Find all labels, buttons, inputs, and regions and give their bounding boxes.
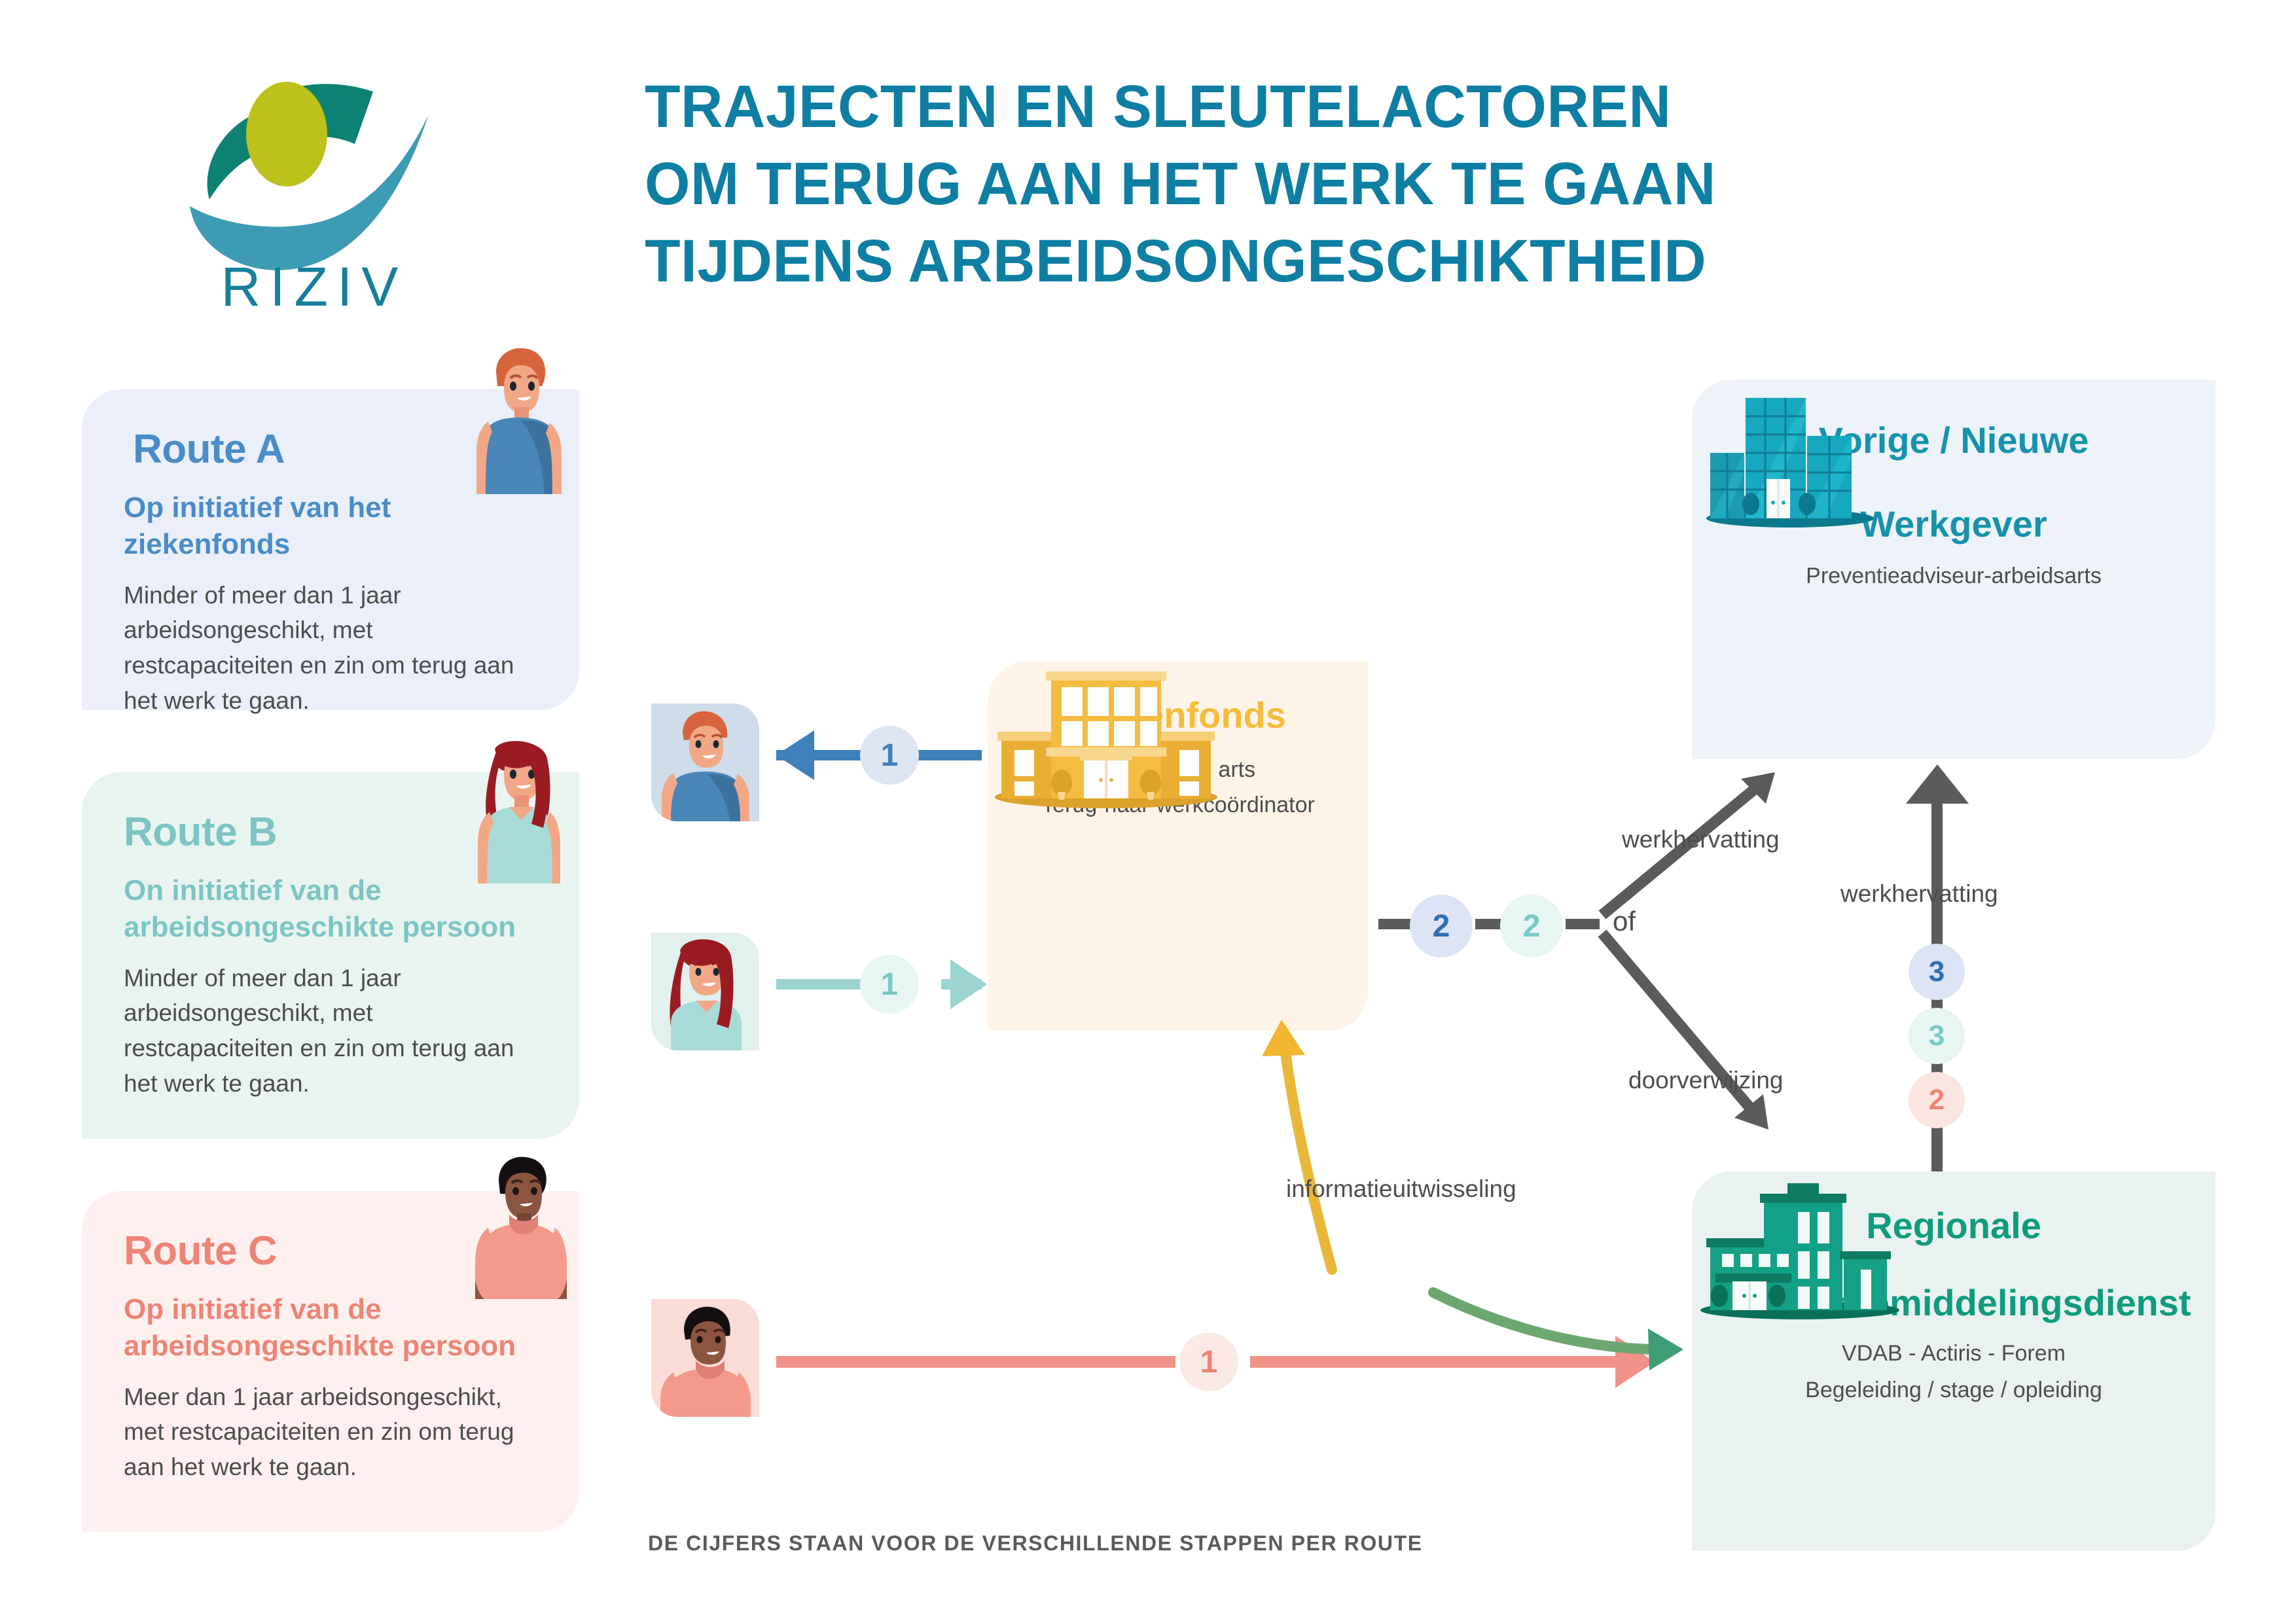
riziv-logo-mark bbox=[183, 52, 465, 288]
node-ziekenfonds: Ziekenfonds Advi bbox=[988, 661, 1368, 1031]
route-c-subtitle: Op initiatief van de arbeidsongeschikte … bbox=[124, 1291, 537, 1365]
regionale-title-1: Regionale bbox=[1692, 1203, 2215, 1249]
route-c-body: Meer dan 1 jaar arbeidsongeschikt, met r… bbox=[124, 1380, 537, 1485]
route-a-step-badge: 1 bbox=[860, 726, 919, 785]
of-label: of bbox=[1613, 906, 1636, 937]
vertical-badge-2-pink: 2 bbox=[1909, 1072, 1965, 1128]
doorverwijzing-label: doorverwijzing bbox=[1628, 1067, 1784, 1094]
werkgever-title-1: Vorige / Nieuwe bbox=[1692, 418, 2215, 463]
riziv-wordmark: RIZIV bbox=[183, 255, 445, 319]
flow-badge-2-blue: 2 bbox=[1410, 895, 1473, 957]
node-werkgever: Vorige / Nieuwe Werkgever Preventieadvis… bbox=[1692, 380, 2215, 759]
route-a-subtitle: Op initiatief van het ziekenfonds bbox=[124, 490, 537, 563]
vertical-badge-3-teal: 3 bbox=[1909, 1008, 1965, 1064]
title-line-2: OM TERUG AAN HET WERK TE GAAN bbox=[645, 146, 1978, 223]
route-c-flow-avatar bbox=[651, 1299, 759, 1417]
title-line-3: TIJDENS ARBEIDSONGESCHIKTHEID bbox=[645, 223, 1978, 300]
informatieuitwisseling-label: informatieuitwisseling bbox=[1286, 1175, 1516, 1203]
regionale-title-2: arbeidsbemiddelingsdienst bbox=[1692, 1280, 2215, 1326]
route-b-step-badge: 1 bbox=[860, 955, 919, 1014]
page-title: TRAJECTEN EN SLEUTELACTOREN OM TERUG AAN… bbox=[645, 69, 1978, 300]
ziekenfonds-caption-1: Adviserend arts bbox=[988, 755, 1368, 785]
route-b-avatar bbox=[458, 736, 579, 883]
informatieuitwisseling-down-arrow bbox=[1433, 1293, 1683, 1370]
route-a-avatar bbox=[458, 347, 579, 494]
regionale-caption-1: VDAB - Actiris - Forem bbox=[1692, 1339, 2215, 1369]
werkgever-title-2: Werkgever bbox=[1692, 501, 2215, 547]
informatieuitwisseling-up-arrow bbox=[1262, 1020, 1332, 1270]
node-regionale-arbeidsbemiddelingsdienst: Regionale arbeidsbemiddelingsdienst bbox=[1692, 1171, 2215, 1551]
werkgever-caption: Preventieadviseur-arbeidsarts bbox=[1692, 562, 2215, 592]
flow-badge-2-teal: 2 bbox=[1500, 895, 1563, 957]
ziekenfonds-title: Ziekenfonds bbox=[988, 692, 1368, 738]
werkhervatting-arrowhead bbox=[1741, 772, 1775, 804]
route-c-avatar bbox=[458, 1152, 579, 1299]
regionale-caption-2: Begeleiding / stage / opleiding bbox=[1692, 1376, 2215, 1406]
footnote: DE CIJFERS STAAN VOOR DE VERSCHILLENDE S… bbox=[648, 1531, 1423, 1556]
doorverwijzing-arrowhead bbox=[1734, 1094, 1768, 1130]
vertical-werkhervatting-label: werkhervatting bbox=[1840, 880, 1998, 908]
route-b-body: Minder of meer dan 1 jaar arbeidsongesch… bbox=[124, 961, 537, 1101]
title-line-1: TRAJECTEN EN SLEUTELACTOREN bbox=[645, 69, 1978, 146]
werkhervatting-branch-label: werkhervatting bbox=[1622, 826, 1780, 853]
route-c-step-badge: 1 bbox=[1179, 1332, 1238, 1391]
ziekenfonds-caption-2: Terug-naar-werkcoördinator bbox=[988, 791, 1368, 821]
vertical-badge-3-blue: 3 bbox=[1909, 944, 1965, 1000]
route-a-body: Minder of meer dan 1 jaar arbeidsongesch… bbox=[124, 578, 537, 719]
route-a-flow-avatar bbox=[651, 704, 759, 821]
riziv-logo: RIZIV bbox=[183, 52, 465, 288]
route-b-flow-avatar bbox=[651, 933, 759, 1050]
